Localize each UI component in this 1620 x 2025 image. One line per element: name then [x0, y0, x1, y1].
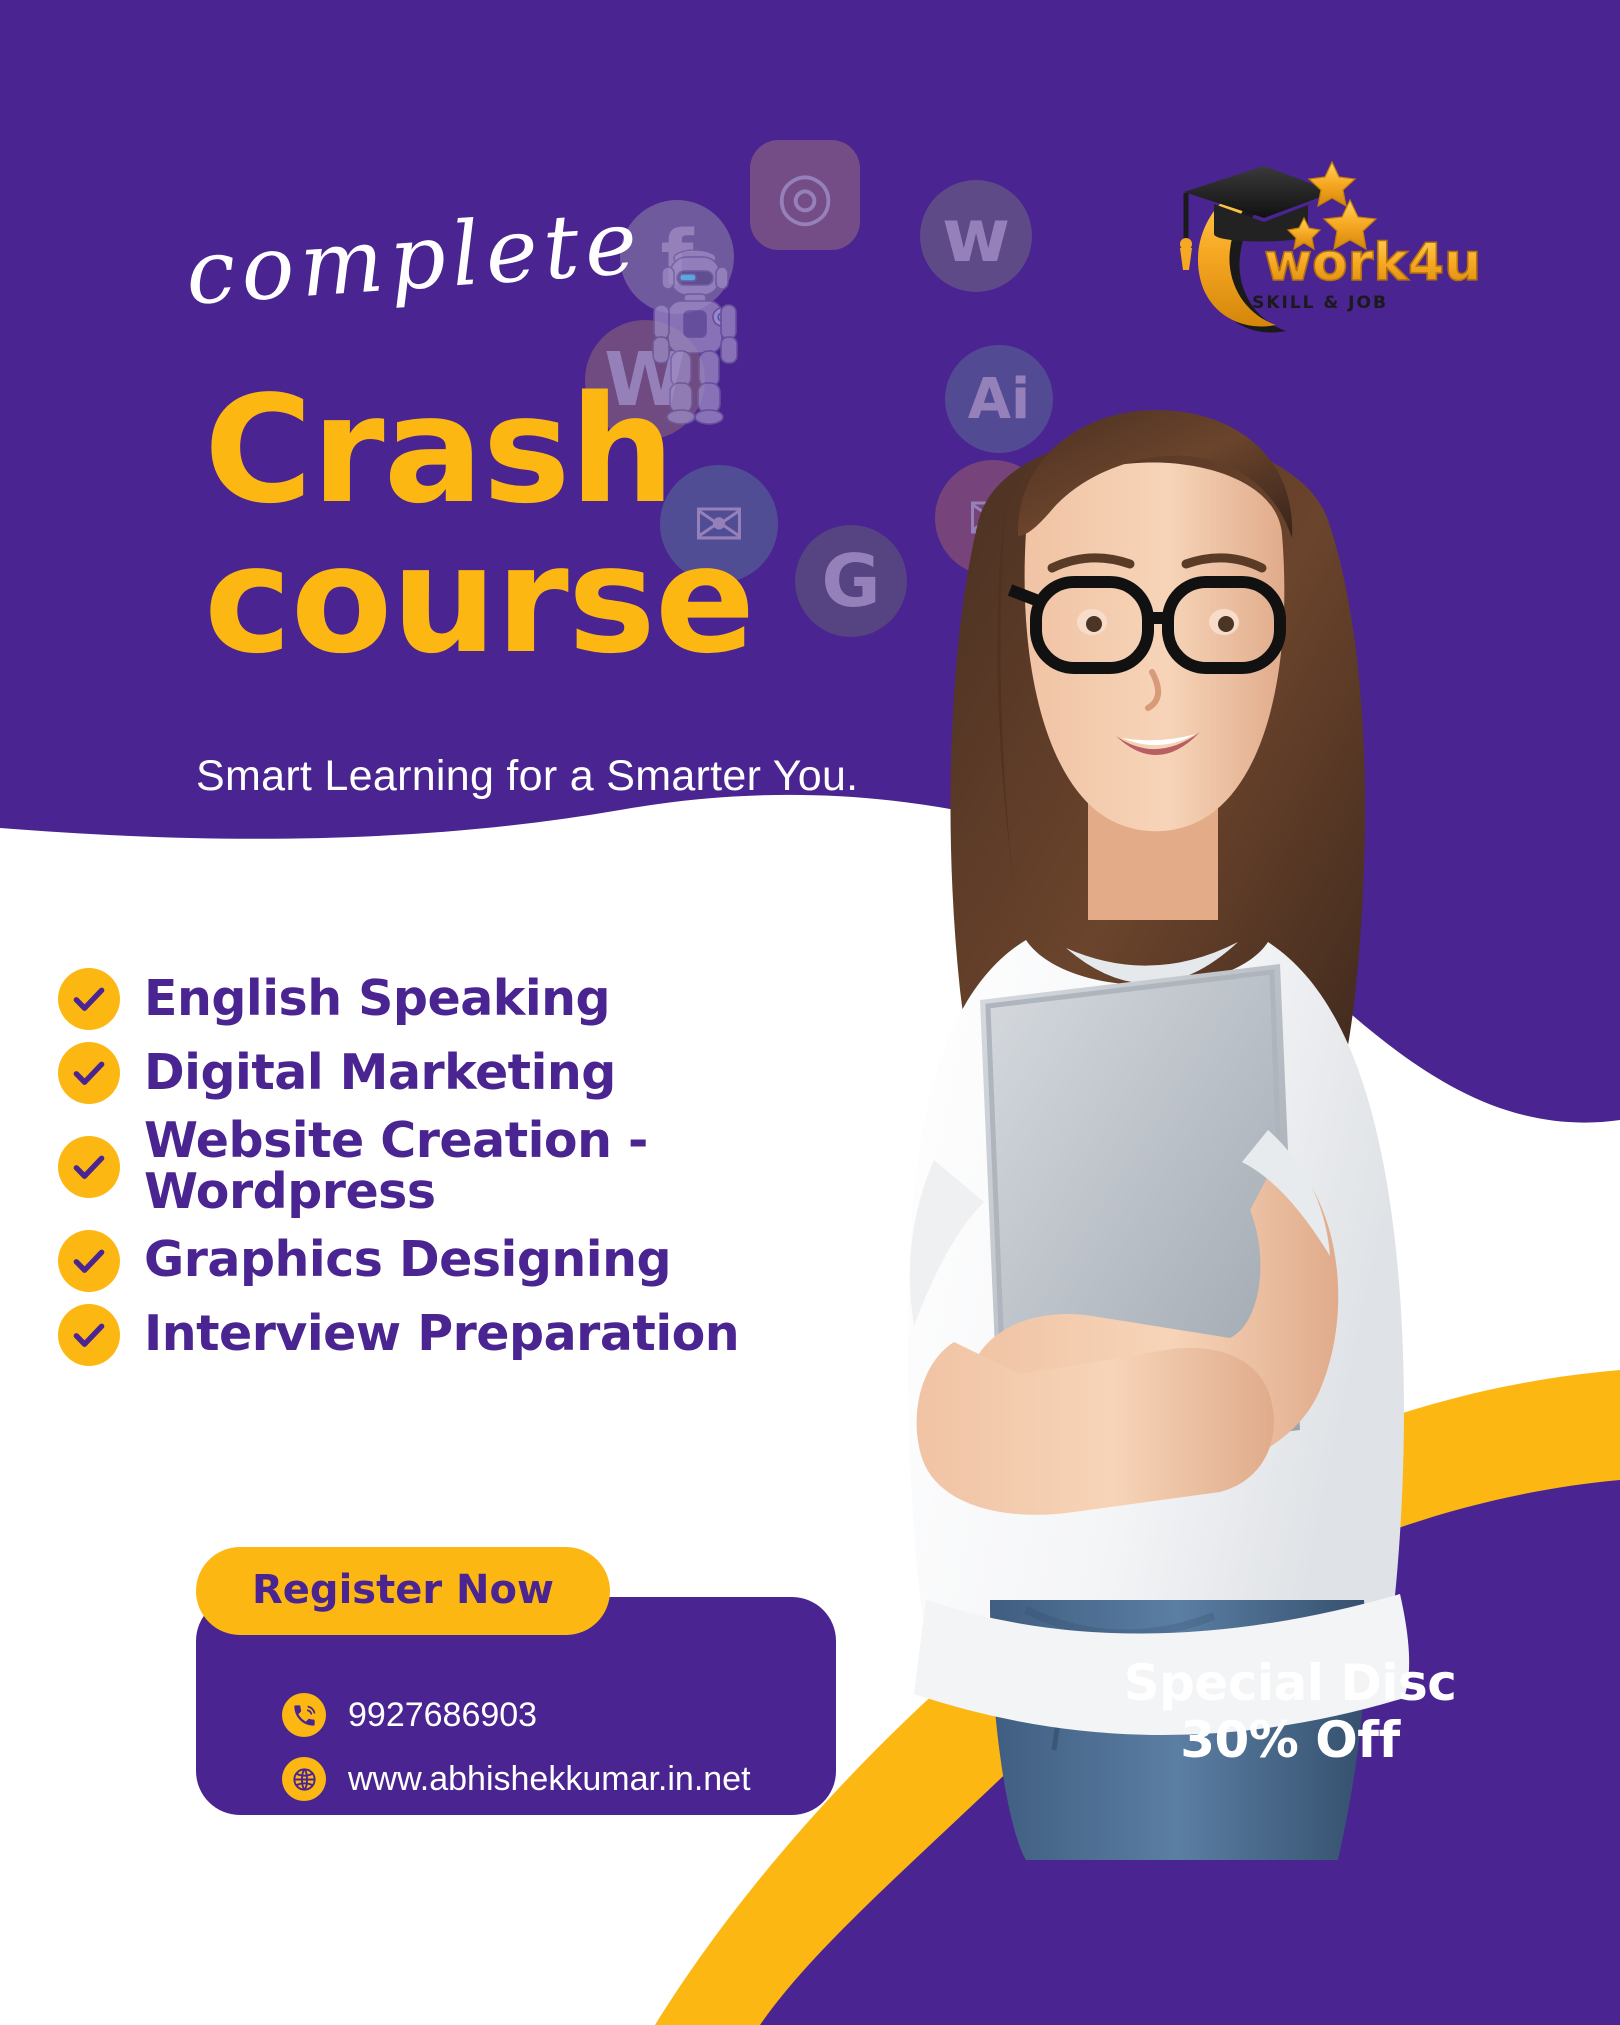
logo-subtext: SKILL & JOB [1252, 293, 1388, 313]
phone-number: 9927686903 [348, 1696, 537, 1735]
check-icon [58, 1304, 120, 1366]
check-icon [58, 1230, 120, 1292]
flyer-poster: f◎wWAi✉✉G [0, 0, 1620, 2025]
check-icon [58, 1042, 120, 1104]
instagram-icon: ◎ [750, 140, 860, 250]
feature-item: English Speaking [58, 968, 898, 1030]
check-icon [58, 1136, 120, 1198]
student-photo [830, 300, 1470, 1860]
feature-label: Digital Marketing [144, 1048, 616, 1099]
register-now-button[interactable]: Register Now [196, 1547, 610, 1635]
headline-course: course [204, 530, 754, 671]
feature-label: Website Creation - Wordpress [144, 1116, 898, 1218]
logo-wordmark: work4u [1264, 233, 1478, 293]
feature-item: Website Creation - Wordpress [58, 1116, 898, 1218]
website-url: www.abhishekkumar.in.net [348, 1760, 751, 1799]
globe-icon [282, 1757, 326, 1801]
headline-crash: Crash [204, 380, 674, 521]
feature-label: English Speaking [144, 974, 610, 1025]
discount-line-1: Special Disc [1110, 1655, 1470, 1712]
feature-item: Interview Preparation [58, 1304, 898, 1366]
wordpress-w-icon: w [920, 180, 1032, 292]
feature-item: Graphics Designing [58, 1230, 898, 1292]
discount-line-2: 30% Off [1110, 1712, 1470, 1769]
discount-block: Special Disc 30% Off [1110, 1655, 1470, 1769]
contact-rows: 9927686903 www.abhishekkumar.in.net [196, 1693, 836, 1821]
contact-row-phone[interactable]: 9927686903 [196, 1693, 836, 1737]
work4u-logo: work4u SKILL & JOB [1168, 148, 1478, 338]
tagline-text: Smart Learning for a Smarter You. [196, 752, 858, 801]
check-icon [58, 968, 120, 1030]
feature-label: Interview Preparation [144, 1309, 739, 1360]
phone-icon [282, 1693, 326, 1737]
feature-item: Digital Marketing [58, 1042, 898, 1104]
contact-row-website[interactable]: www.abhishekkumar.in.net [196, 1757, 836, 1801]
features-list: English SpeakingDigital MarketingWebsite… [58, 968, 898, 1378]
feature-label: Graphics Designing [144, 1235, 671, 1286]
